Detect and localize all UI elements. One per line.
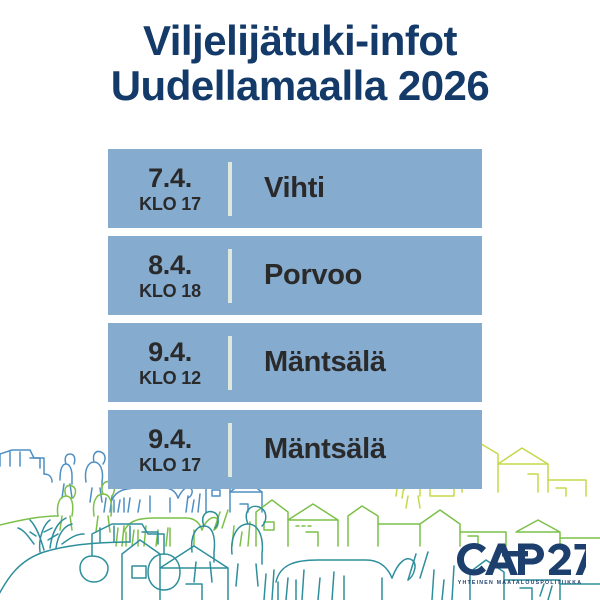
cap27-logo: YHTEINEN MAATALOUSPOLITIIKKA [454, 540, 586, 586]
event-place: Mäntsälä [234, 346, 482, 379]
event-when: 9.4. KLO 12 [108, 339, 228, 387]
event-when: 9.4. KLO 17 [108, 426, 228, 474]
event-when: 7.4. KLO 17 [108, 165, 228, 213]
cap27-wordmark-icon [454, 540, 586, 578]
vertical-divider [228, 249, 232, 303]
event-time: KLO 18 [112, 282, 228, 300]
event-when: 8.4. KLO 18 [108, 252, 228, 300]
event-date: 9.4. [112, 339, 228, 366]
event-row: 9.4. KLO 17 Mäntsälä [108, 410, 482, 489]
cap27-tagline: YHTEINEN MAATALOUSPOLITIIKKA [454, 580, 586, 586]
vertical-divider [228, 423, 232, 477]
event-row: 7.4. KLO 17 Vihti [108, 149, 482, 228]
vertical-divider [228, 336, 232, 390]
title-line-1: Viljelijätuki-infot [0, 18, 600, 63]
vertical-divider [228, 162, 232, 216]
event-place: Mäntsälä [234, 433, 482, 466]
event-date: 9.4. [112, 426, 228, 453]
event-time: KLO 17 [112, 195, 228, 213]
event-date: 7.4. [112, 165, 228, 192]
event-list: 7.4. KLO 17 Vihti 8.4. KLO 18 Porvoo 9.4… [108, 149, 482, 497]
page-title: Viljelijätuki-infot Uudellamaalla 2026 [0, 18, 600, 109]
event-date: 8.4. [112, 252, 228, 279]
event-time: KLO 17 [112, 456, 228, 474]
event-time: KLO 12 [112, 369, 228, 387]
event-row: 9.4. KLO 12 Mäntsälä [108, 323, 482, 402]
event-place: Vihti [234, 172, 482, 205]
poster-canvas: Viljelijätuki-infot Uudellamaalla 2026 7… [0, 0, 600, 600]
title-line-2: Uudellamaalla 2026 [0, 63, 600, 108]
event-row: 8.4. KLO 18 Porvoo [108, 236, 482, 315]
event-place: Porvoo [234, 259, 482, 292]
